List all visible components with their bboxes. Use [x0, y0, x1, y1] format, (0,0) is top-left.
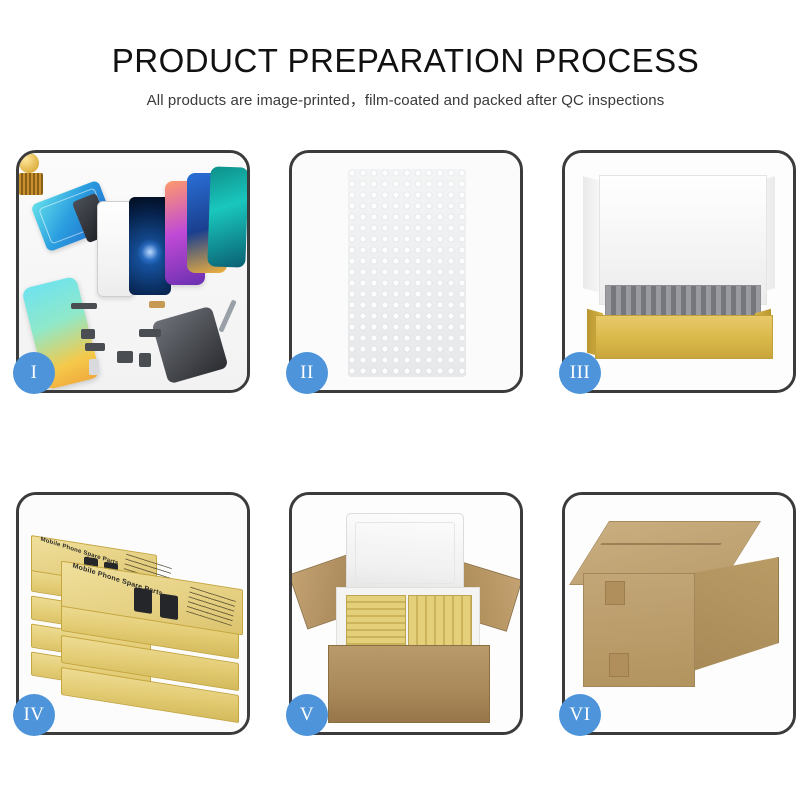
small-part-flex — [85, 343, 105, 351]
process-step-3: III — [562, 150, 796, 393]
process-step-4: Mobile Phone Spare Parts Mobile Phone Sp… — [16, 492, 250, 735]
box-stack: Mobile Phone Spare Parts Mobile Phone Sp… — [27, 511, 241, 723]
carton-tape-lower — [609, 653, 629, 677]
bubble-wrap-bag — [348, 169, 466, 377]
carton-side-face — [693, 557, 779, 671]
small-part-strip — [71, 303, 97, 309]
process-step-5: V — [289, 492, 523, 735]
carton-top-seam — [600, 543, 721, 545]
box-print-speclines-right — [186, 587, 236, 626]
step-1-image — [19, 153, 247, 390]
step-badge-2: II — [286, 352, 328, 394]
box-print-screen-d — [160, 593, 178, 620]
page-title: PRODUCT PREPARATION PROCESS — [0, 44, 811, 79]
small-part-camera — [139, 353, 151, 367]
step-5-image — [292, 495, 520, 732]
gold-disc-part — [19, 153, 39, 173]
tweezers-tool — [218, 299, 236, 332]
small-part-cable — [139, 329, 161, 337]
inner-boxes-row-right — [408, 595, 472, 647]
process-step-grid: I II — [16, 150, 795, 735]
circuit-chip-part — [19, 173, 43, 195]
carton-front-face — [583, 573, 695, 687]
step-6-image — [565, 495, 793, 732]
product-preparation-page: PRODUCT PREPARATION PROCESS All products… — [0, 0, 811, 811]
phone-back-cover — [151, 306, 228, 385]
small-part-connector — [149, 301, 165, 308]
bubble-texture — [348, 169, 466, 377]
step-badge-3: III — [559, 352, 601, 394]
inner-boxes-row-left — [346, 595, 406, 647]
foam-lid — [346, 513, 464, 593]
small-part-tray — [89, 359, 99, 375]
carton-body — [328, 645, 490, 723]
step-2-image — [292, 153, 520, 390]
step-badge-4: IV — [13, 694, 55, 736]
box-base-front — [595, 315, 773, 359]
carton-tape-upper — [605, 581, 625, 605]
step-badge-1: I — [13, 352, 55, 394]
step-3-image — [565, 153, 793, 390]
process-step-2: II — [289, 150, 523, 393]
page-header: PRODUCT PREPARATION PROCESS All products… — [0, 0, 811, 110]
step-badge-6: VI — [559, 694, 601, 736]
page-subtitle: All products are image-printed，film-coat… — [0, 89, 811, 110]
step-4-image: Mobile Phone Spare Parts Mobile Phone Sp… — [19, 495, 247, 732]
teal-gradient-phone — [207, 166, 247, 267]
bubble-foam-insert — [605, 285, 761, 319]
small-part-button — [117, 351, 133, 363]
step-badge-5: V — [286, 694, 328, 736]
process-step-6: VI — [562, 492, 796, 735]
box-print-screen-c — [134, 587, 152, 614]
process-step-1: I — [16, 150, 250, 393]
small-part-bracket — [81, 329, 95, 339]
